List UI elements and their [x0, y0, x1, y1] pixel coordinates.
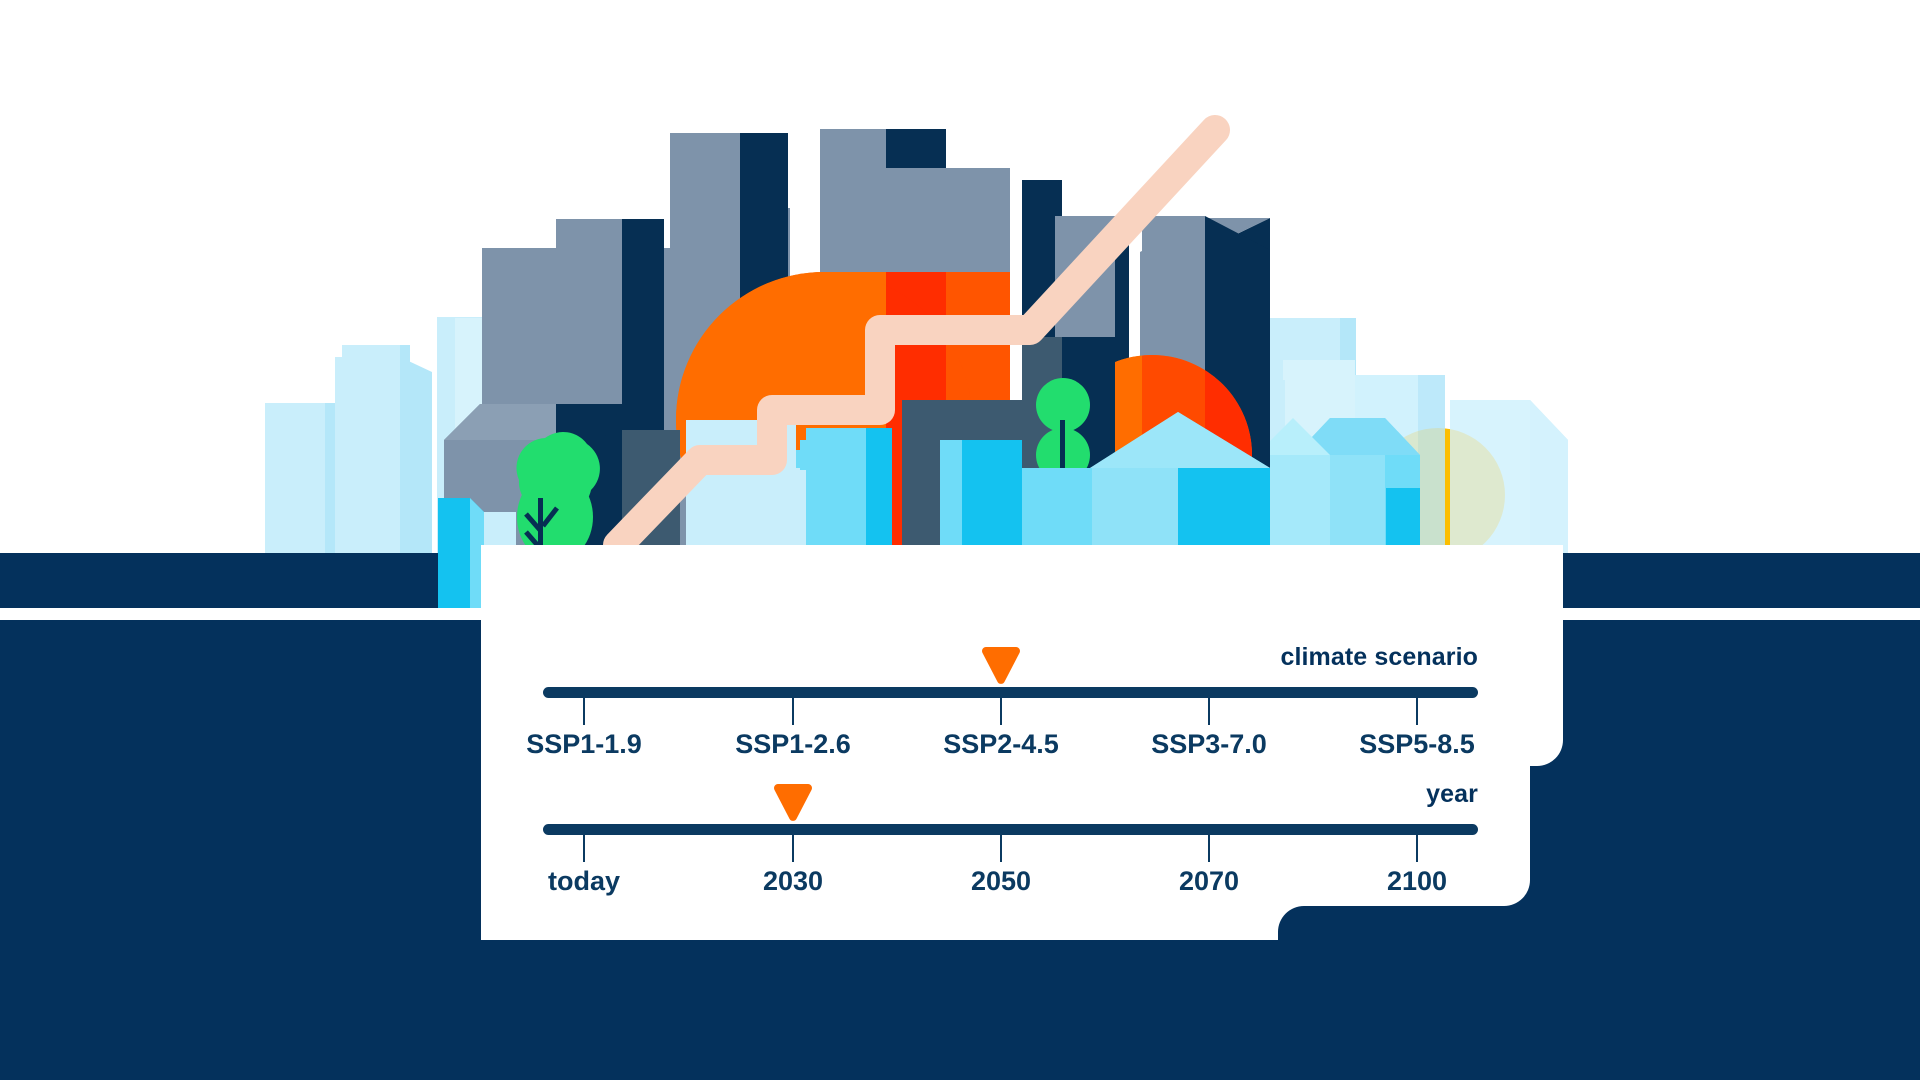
screen: climate scenario SSP1-1.9 SSP1-2.6 SSP2-… — [0, 0, 1920, 1080]
triangle-down-icon — [774, 784, 812, 821]
year-tick-label-3[interactable]: 2070 — [1179, 866, 1239, 897]
year-tick-label-2[interactable]: 2050 — [971, 866, 1031, 897]
year-slider-label: year — [1426, 780, 1478, 809]
triangle-down-icon — [982, 647, 1020, 684]
scenario-tick-2 — [1000, 698, 1002, 725]
year-tick-1 — [792, 835, 794, 862]
scenario-tick-label-4[interactable]: SSP5-8.5 — [1359, 729, 1475, 760]
scenario-tick-0 — [583, 698, 585, 725]
year-tick-3 — [1208, 835, 1210, 862]
scenario-slider-track[interactable] — [543, 687, 1478, 698]
year-tick-2 — [1000, 835, 1002, 862]
city-skyline-illustration — [0, 0, 1920, 620]
year-tick-label-0[interactable]: today — [548, 866, 620, 897]
scenario-tick-label-0[interactable]: SSP1-1.9 — [526, 729, 642, 760]
scenario-tick-3 — [1208, 698, 1210, 725]
scenario-slider-label: climate scenario — [1280, 643, 1478, 672]
year-tick-label-4[interactable]: 2100 — [1387, 866, 1447, 897]
year-tick-0 — [583, 835, 585, 862]
year-slider-handle[interactable] — [774, 784, 812, 821]
small-house-right — [1256, 418, 1420, 553]
scenario-tick-1 — [792, 698, 794, 725]
scenario-tick-label-1[interactable]: SSP1-2.6 — [735, 729, 851, 760]
scenario-slider-handle[interactable] — [982, 647, 1020, 684]
year-tick-label-1[interactable]: 2030 — [763, 866, 823, 897]
year-slider-track[interactable] — [543, 824, 1478, 835]
scenario-tick-label-2[interactable]: SSP2-4.5 — [943, 729, 1059, 760]
year-tick-4 — [1416, 835, 1418, 862]
scenario-tick-4 — [1416, 698, 1418, 725]
scenario-tick-label-3[interactable]: SSP3-7.0 — [1151, 729, 1267, 760]
